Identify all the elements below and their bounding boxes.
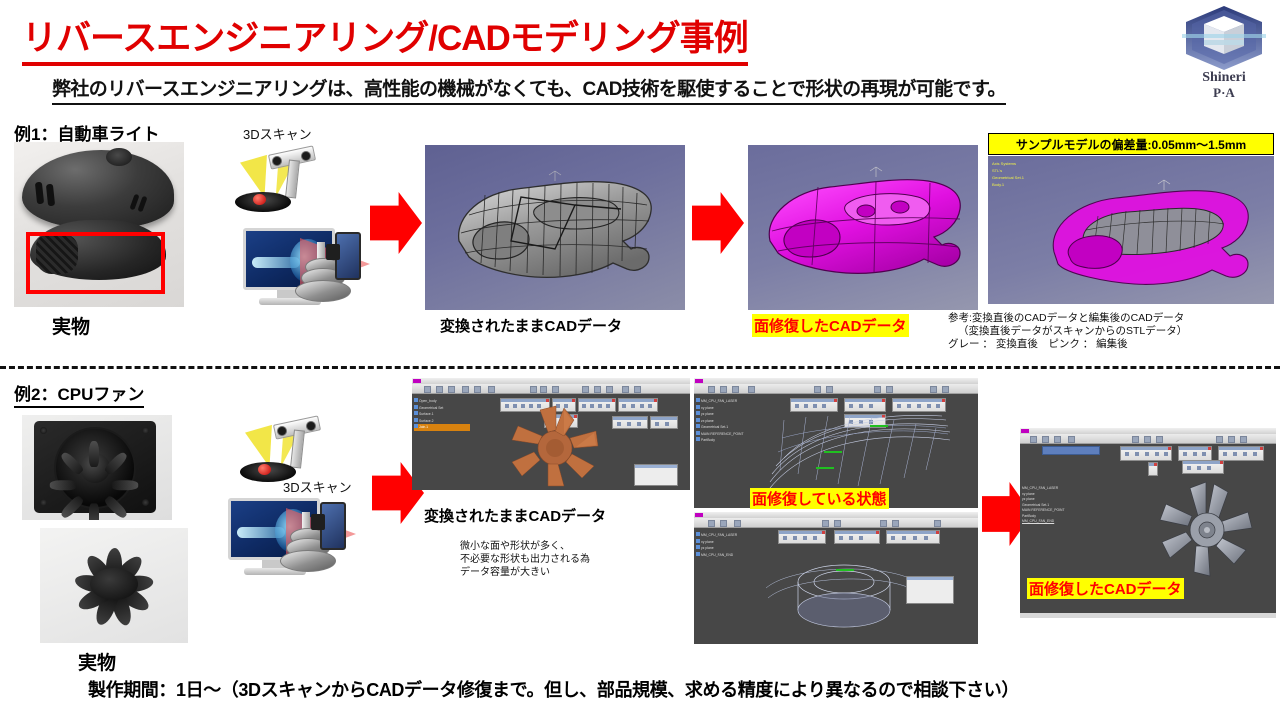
reference-note-line-1: 参考:変換直後のCADデータと編集後のCADデータ xyxy=(948,312,1187,325)
float-toolbar-18[interactable] xyxy=(1148,462,1158,476)
example1-comparison-view[interactable]: Axis Systems STL's Geometrical Set.1 Bod… xyxy=(988,156,1274,304)
example2-final-label: 面修復したCADデータ xyxy=(1027,578,1184,599)
example2-scan-label: 3Dスキャン xyxy=(283,477,352,496)
options-dialog[interactable] xyxy=(906,576,954,604)
note-line-3: データ容量が大きい xyxy=(460,566,590,579)
example2-scan-software-view[interactable]: Open_body Geometrical Set Surface.1 Surf… xyxy=(412,378,690,490)
hub-cylinder-view xyxy=(758,548,928,640)
feature-tree-panel-4[interactable]: MM_CPU_FAN_LASER xy plane yz plane Geome… xyxy=(1022,486,1065,525)
tree-row-f6: MM_CPU_FAN_END xyxy=(1022,519,1065,525)
logo-name: Shineri xyxy=(1202,70,1246,85)
logo-text: Shineri P·A xyxy=(1176,70,1272,101)
deviation-banner: サンプルモデルの偏差量:0.05mm〜1.5mm xyxy=(988,133,1274,155)
float-toolbar-15[interactable] xyxy=(1120,446,1172,461)
note-line-1: 微小な面や形状が多く、 xyxy=(460,540,590,553)
scanned-fan-mesh xyxy=(490,400,620,488)
reference-note-line-2: （変換直後データがスキャンからのSTLデータ） xyxy=(948,325,1187,338)
example2-repair-label: 面修復している状態 xyxy=(750,488,889,509)
example1-cad-fixed-view[interactable] xyxy=(748,145,978,310)
properties-dialog[interactable] xyxy=(634,464,678,486)
note-line-2: 不必要な形状も出力される為 xyxy=(460,553,590,566)
float-toolbar-4[interactable] xyxy=(618,398,658,412)
float-toolbar-16[interactable] xyxy=(1178,446,1212,461)
example1-cad-raw-caption: 変換されたままCADデータ xyxy=(440,315,622,336)
page-subtitle: 弊社のリバースエンジニアリングは、高性能の機械がなくても、CAD技術を駆使するこ… xyxy=(52,74,1006,105)
cpu-fan-photo xyxy=(22,415,172,520)
tree-row-b0: MM_CPU_FAN_LASER xyxy=(696,532,737,539)
right-arrow-icon xyxy=(370,192,422,254)
right-arrow-icon-2 xyxy=(692,192,744,254)
footer-text: 製作期間：1日〜（3DスキャンからCADデータ修復まで。但し、部品規模、求める精… xyxy=(88,676,1019,702)
float-toolbar-17[interactable] xyxy=(1218,446,1264,461)
selected-feature-bar[interactable] xyxy=(1042,446,1100,455)
example1-scan-label: 3Dスキャン xyxy=(243,124,312,143)
tree-row-r6: PartBody xyxy=(696,437,744,444)
float-toolbar-8[interactable] xyxy=(790,398,838,412)
phone-icon xyxy=(335,232,361,280)
fan-impeller-photo xyxy=(40,528,188,643)
float-toolbar-14[interactable] xyxy=(886,530,940,544)
tree-row-4: Join.1 xyxy=(414,424,470,431)
example2-photo-caption: 実物 xyxy=(78,648,116,675)
float-toolbar-12[interactable] xyxy=(778,530,826,544)
tool-bar-3[interactable] xyxy=(694,518,978,528)
float-toolbar-19[interactable] xyxy=(1182,460,1224,474)
tool-bar[interactable] xyxy=(412,384,690,394)
app-icon-2 xyxy=(695,379,703,383)
surface-mesh-view xyxy=(754,412,964,500)
page-title: リバースエンジニアリング/CADモデリング事例 xyxy=(22,10,748,66)
tool-bar-4[interactable] xyxy=(1020,434,1276,444)
float-toolbar-10[interactable] xyxy=(892,398,946,412)
feature-tree-panel-2[interactable]: MM_CPU_FAN_LASER xy plane yz plane zx pl… xyxy=(696,398,744,444)
example1-photo-caption: 実物 xyxy=(52,312,90,339)
example1-cad-raw-view[interactable] xyxy=(425,145,685,310)
tree-row-b3: MM_CPU_FAN_END xyxy=(696,552,737,559)
reference-note-line-3: グレー ： 変換直後 ピンク ： 編集後 xyxy=(948,338,1187,351)
headlight-highlight-box xyxy=(26,232,165,294)
float-toolbar-13[interactable] xyxy=(834,530,880,544)
example2-cad-raw-caption: 変換されたままCADデータ xyxy=(424,505,606,526)
status-bar xyxy=(1020,613,1276,618)
app-icon xyxy=(413,379,421,383)
tree-row-f4: MAIN REFERENCE_POINT xyxy=(1022,508,1065,514)
float-toolbar-7[interactable] xyxy=(650,416,678,429)
logo-sub: P·A xyxy=(1176,86,1272,101)
cube-logo-icon: Shineri P·A xyxy=(1176,4,1272,114)
app-icon-4 xyxy=(1021,429,1029,433)
tool-bar-2[interactable] xyxy=(694,384,978,394)
example2-label: 例2：CPUファン xyxy=(14,380,144,408)
slide-root: リバースエンジニアリング/CADモデリング事例 弊社のリバースエンジニアリングは… xyxy=(0,0,1280,720)
example2-repair-software-view-bottom[interactable]: MM_CPU_FAN_LASER xy plane yz plane MM_CP… xyxy=(694,512,978,644)
section-divider xyxy=(0,366,1280,369)
example1-reference-note: 参考:変換直後のCADデータと編集後のCADデータ （変換直後データがスキャンか… xyxy=(948,312,1187,351)
app-icon-3 xyxy=(695,513,703,517)
3d-scanner-icon xyxy=(243,150,353,220)
feature-tree-panel[interactable]: Open_body Geometrical Set Surface.1 Surf… xyxy=(414,398,470,431)
example2-note: 微小な面や形状が多く、 不必要な形状も出力される為 データ容量が大きい xyxy=(460,540,590,579)
example1-cad-fixed-caption: 面修復したCADデータ xyxy=(752,314,909,337)
final-fan-cad-model xyxy=(1148,476,1268,584)
feature-tree-panel-3[interactable]: MM_CPU_FAN_LASER xy plane yz plane MM_CP… xyxy=(696,532,737,558)
tree-row-r0: MM_CPU_FAN_LASER xyxy=(696,398,744,405)
float-toolbar-9[interactable] xyxy=(844,398,886,412)
phone-icon-2 xyxy=(320,502,346,550)
